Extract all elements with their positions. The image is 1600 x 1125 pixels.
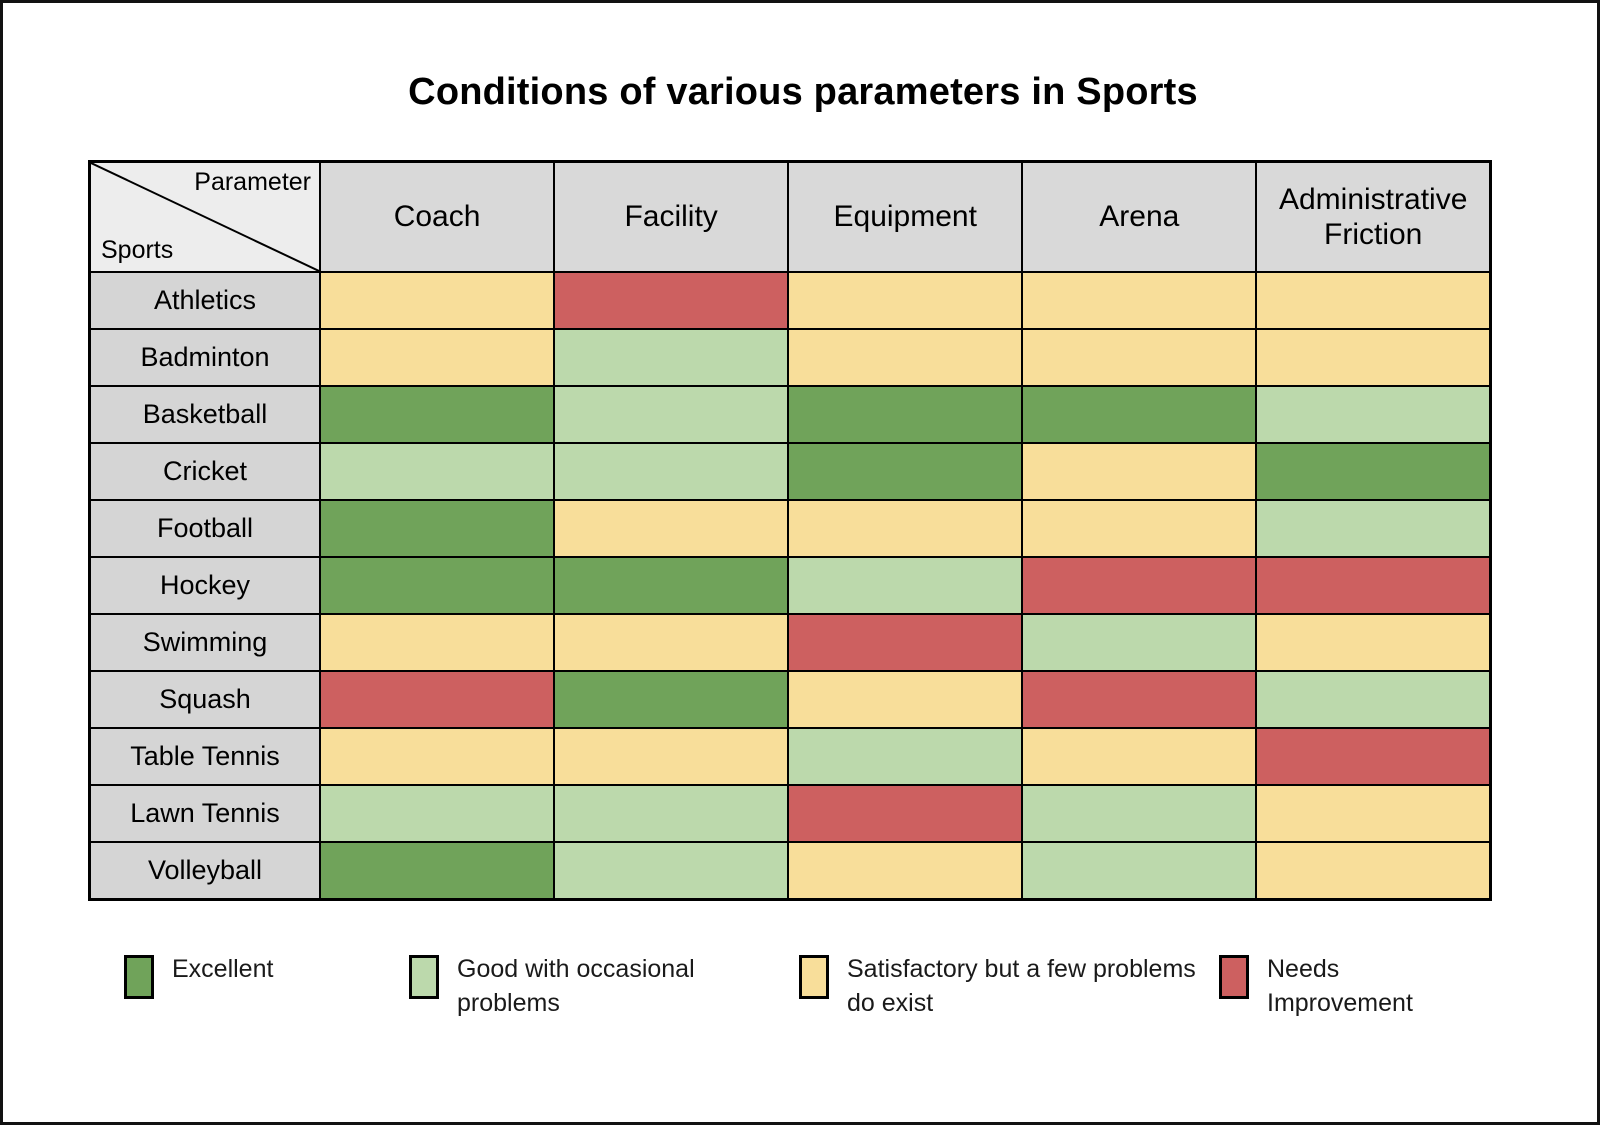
cell-lawn-tennis-equipment — [788, 785, 1022, 842]
row-header-basketball: Basketball — [90, 386, 321, 443]
legend-label: Satisfactory but a few problems do exist — [847, 953, 1219, 1021]
corner-parameter-label: Parameter — [194, 169, 311, 197]
cell-hockey-equipment — [788, 557, 1022, 614]
cell-football-facility — [554, 500, 788, 557]
matrix-row: Badminton — [90, 329, 1491, 386]
cell-badminton-arena — [1022, 329, 1256, 386]
cell-hockey-administrative-friction — [1256, 557, 1490, 614]
cell-basketball-arena — [1022, 386, 1256, 443]
legend-item-satisfactory: Satisfactory but a few problems do exist — [799, 953, 1219, 1021]
column-header-equipment: Equipment — [788, 162, 1022, 273]
cell-volleyball-facility — [554, 842, 788, 900]
legend: ExcellentGood with occasional problemsSa… — [88, 953, 1508, 1021]
matrix-row: Football — [90, 500, 1491, 557]
matrix-row: Lawn Tennis — [90, 785, 1491, 842]
row-header-athletics: Athletics — [90, 272, 321, 329]
cell-lawn-tennis-administrative-friction — [1256, 785, 1490, 842]
chart-page: Conditions of various parameters in Spor… — [0, 0, 1600, 1125]
cell-lawn-tennis-coach — [320, 785, 554, 842]
legend-label: Excellent — [172, 953, 273, 987]
cell-squash-administrative-friction — [1256, 671, 1490, 728]
cell-table-tennis-facility — [554, 728, 788, 785]
matrix-row: Basketball — [90, 386, 1491, 443]
row-header-table-tennis: Table Tennis — [90, 728, 321, 785]
matrix-row: Cricket — [90, 443, 1491, 500]
cell-volleyball-equipment — [788, 842, 1022, 900]
cell-swimming-facility — [554, 614, 788, 671]
cell-table-tennis-coach — [320, 728, 554, 785]
cell-swimming-arena — [1022, 614, 1256, 671]
cell-cricket-administrative-friction — [1256, 443, 1490, 500]
cell-swimming-equipment — [788, 614, 1022, 671]
legend-swatch-icon — [1219, 955, 1249, 999]
page-title: Conditions of various parameters in Spor… — [3, 71, 1600, 114]
column-header-facility: Facility — [554, 162, 788, 273]
legend-label: Good with occasional problems — [457, 953, 799, 1021]
cell-squash-equipment — [788, 671, 1022, 728]
matrix-row: Volleyball — [90, 842, 1491, 900]
cell-hockey-facility — [554, 557, 788, 614]
legend-label: Needs Improvement — [1267, 953, 1459, 1021]
cell-basketball-coach — [320, 386, 554, 443]
column-header-administrative-friction: Administrative Friction — [1256, 162, 1490, 273]
row-header-cricket: Cricket — [90, 443, 321, 500]
cell-basketball-facility — [554, 386, 788, 443]
column-header-coach: Coach — [320, 162, 554, 273]
cell-volleyball-coach — [320, 842, 554, 900]
corner-header-cell: Parameter Sports — [90, 162, 321, 273]
cell-table-tennis-arena — [1022, 728, 1256, 785]
matrix-row: Athletics — [90, 272, 1491, 329]
cell-volleyball-arena — [1022, 842, 1256, 900]
cell-swimming-coach — [320, 614, 554, 671]
cell-athletics-coach — [320, 272, 554, 329]
column-header-arena: Arena — [1022, 162, 1256, 273]
cell-swimming-administrative-friction — [1256, 614, 1490, 671]
conditions-matrix-table: Parameter Sports CoachFacilityEquipmentA… — [88, 160, 1492, 901]
cell-hockey-arena — [1022, 557, 1256, 614]
cell-badminton-coach — [320, 329, 554, 386]
cell-volleyball-administrative-friction — [1256, 842, 1490, 900]
cell-cricket-facility — [554, 443, 788, 500]
matrix-row: Table Tennis — [90, 728, 1491, 785]
legend-swatch-icon — [409, 955, 439, 999]
cell-football-coach — [320, 500, 554, 557]
cell-athletics-administrative-friction — [1256, 272, 1490, 329]
cell-badminton-equipment — [788, 329, 1022, 386]
cell-athletics-facility — [554, 272, 788, 329]
cell-cricket-arena — [1022, 443, 1256, 500]
cell-table-tennis-administrative-friction — [1256, 728, 1490, 785]
corner-sports-label: Sports — [101, 237, 173, 265]
matrix-row: Swimming — [90, 614, 1491, 671]
cell-football-arena — [1022, 500, 1256, 557]
cell-basketball-administrative-friction — [1256, 386, 1490, 443]
row-header-hockey: Hockey — [90, 557, 321, 614]
row-header-badminton: Badminton — [90, 329, 321, 386]
cell-squash-arena — [1022, 671, 1256, 728]
cell-squash-coach — [320, 671, 554, 728]
cell-basketball-equipment — [788, 386, 1022, 443]
legend-swatch-icon — [124, 955, 154, 999]
matrix-row: Squash — [90, 671, 1491, 728]
cell-lawn-tennis-facility — [554, 785, 788, 842]
cell-cricket-equipment — [788, 443, 1022, 500]
cell-lawn-tennis-arena — [1022, 785, 1256, 842]
row-header-lawn-tennis: Lawn Tennis — [90, 785, 321, 842]
legend-item-good: Good with occasional problems — [409, 953, 799, 1021]
cell-badminton-administrative-friction — [1256, 329, 1490, 386]
matrix-row: Hockey — [90, 557, 1491, 614]
legend-item-excellent: Excellent — [124, 953, 409, 999]
cell-football-equipment — [788, 500, 1022, 557]
cell-table-tennis-equipment — [788, 728, 1022, 785]
row-header-swimming: Swimming — [90, 614, 321, 671]
cell-badminton-facility — [554, 329, 788, 386]
cell-squash-facility — [554, 671, 788, 728]
cell-cricket-coach — [320, 443, 554, 500]
cell-football-administrative-friction — [1256, 500, 1490, 557]
cell-athletics-arena — [1022, 272, 1256, 329]
row-header-football: Football — [90, 500, 321, 557]
matrix-header-row: Parameter Sports CoachFacilityEquipmentA… — [90, 162, 1491, 273]
row-header-squash: Squash — [90, 671, 321, 728]
legend-item-needs-improvement: Needs Improvement — [1219, 953, 1459, 1021]
cell-athletics-equipment — [788, 272, 1022, 329]
legend-swatch-icon — [799, 955, 829, 999]
row-header-volleyball: Volleyball — [90, 842, 321, 900]
matrix-body: Parameter Sports CoachFacilityEquipmentA… — [90, 162, 1491, 900]
cell-hockey-coach — [320, 557, 554, 614]
